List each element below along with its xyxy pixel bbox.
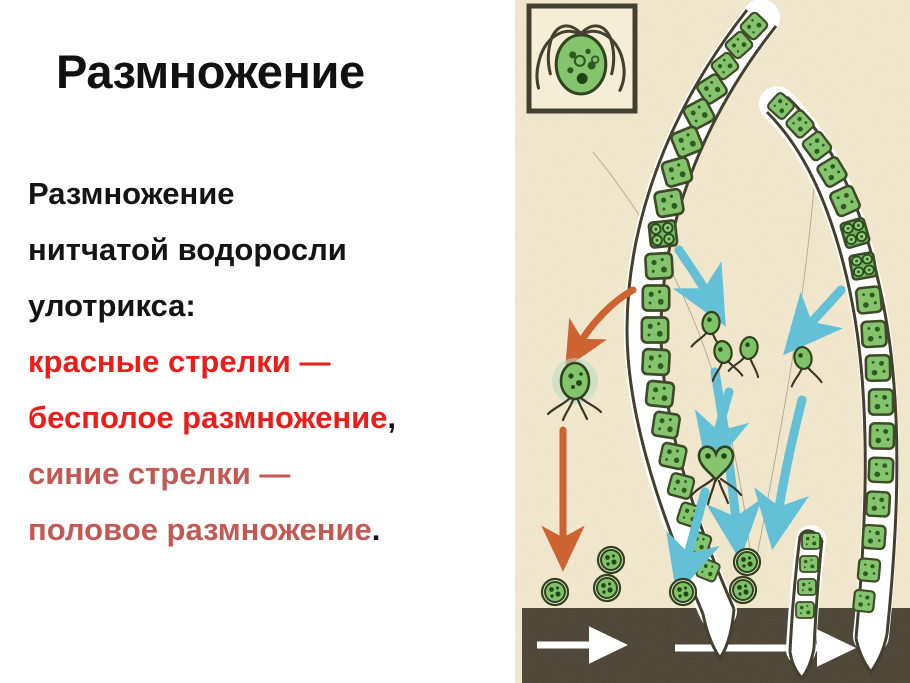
zoospore-inset <box>529 6 635 111</box>
body-line: улотрикса: <box>28 278 498 334</box>
body-line-sexual-legend: синие стрелки — <box>28 446 498 502</box>
ulothrix-diagram-figure <box>515 0 910 683</box>
body-line-text: улотрикса: <box>28 288 196 323</box>
slide-root: Размножение Размножение нитчатой водорос… <box>0 0 910 683</box>
gametangium <box>849 252 877 280</box>
ulothrix-diagram-svg <box>515 0 910 683</box>
body-line-sexual-value: половое размножение. <box>28 502 498 558</box>
body-line-text: бесполое размножение <box>28 400 387 435</box>
body-line: Размножение <box>28 166 498 222</box>
body-line-text: нитчатой водоросли <box>28 232 347 267</box>
zoosporangium <box>649 220 678 248</box>
text-column: Размножение Размножение нитчатой водорос… <box>0 0 505 683</box>
body-line: нитчатой водоросли <box>28 222 498 278</box>
page-title: Размножение <box>56 44 365 99</box>
body-line-punct: . <box>372 512 381 547</box>
body-line-asexual-value: бесполое размножение, <box>28 390 498 446</box>
body-line-text: Размножение <box>28 176 235 211</box>
zoospore-body <box>556 35 606 94</box>
body-line-text: синие стрелки — <box>28 456 290 491</box>
body-line-asexual-legend: красные стрелки — <box>28 334 498 390</box>
body-line-punct: , <box>387 400 396 435</box>
body-text-block: Размножение нитчатой водоросли улотрикса… <box>28 166 498 558</box>
gametangium <box>840 218 870 249</box>
body-line-text: половое размножение <box>28 512 372 547</box>
body-line-text: красные стрелки — <box>28 344 330 379</box>
